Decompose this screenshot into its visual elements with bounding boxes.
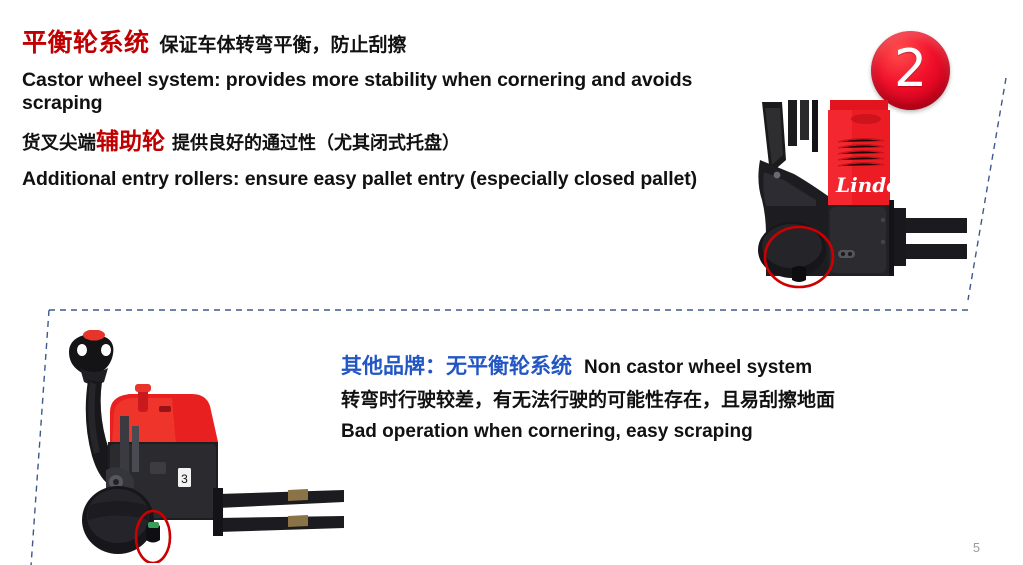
entry-rollers-suffix-cn: 提供良好的通过性（尤其闭式托盘） <box>172 133 460 154</box>
other-brand-pallet-truck-image: 3 <box>50 330 350 563</box>
castor-system-title-cn: 平衡轮系统 <box>22 28 150 57</box>
linde-truck-illustration: Linde <box>752 100 967 292</box>
entry-rollers-line-cn: 货叉尖端辅助轮提供良好的通过性（尤其闭式托盘） <box>22 128 752 156</box>
other-brand-heading-row: 其他品牌：无平衡轮系统Non castor wheel system <box>341 354 901 380</box>
slide-canvas: 平衡轮系统保证车体转弯平衡，防止刮擦 Castor wheel system: … <box>0 0 1023 565</box>
bottom-text-block: 其他品牌：无平衡轮系统Non castor wheel system 转弯时行驶… <box>341 354 901 452</box>
other-brand-title-en: Non castor wheel system <box>584 357 812 378</box>
other-truck-illustration: 3 <box>50 330 350 563</box>
truck-number-plate: 3 <box>181 472 188 486</box>
step-number-badge: 2 <box>871 31 950 110</box>
other-brand-title-cn: 其他品牌：无平衡轮系统 <box>341 354 572 378</box>
linde-logo-text: Linde <box>835 173 899 197</box>
other-brand-desc-cn: 转弯时行驶较差，有无法行驶的可能性存在，且易刮擦地面 <box>341 389 901 412</box>
step-number-badge-label: 2 <box>894 43 927 95</box>
dash-line-lower-left <box>31 310 49 565</box>
top-text-block: 平衡轮系统保证车体转弯平衡，防止刮擦 Castor wheel system: … <box>22 28 752 198</box>
entry-rollers-text-en: Additional entry rollers: ensure easy pa… <box>22 168 752 192</box>
dash-line-upper-right <box>968 78 1006 300</box>
top-heading-line: 平衡轮系统保证车体转弯平衡，防止刮擦 <box>22 28 752 59</box>
castor-system-text-en: Castor wheel system: provides more stabi… <box>22 69 752 117</box>
entry-rollers-prefix-cn: 货叉尖端 <box>22 133 96 154</box>
linde-pallet-truck-image: Linde <box>752 100 967 292</box>
other-brand-desc-en: Bad operation when cornering, easy scrap… <box>341 421 901 444</box>
entry-rollers-highlight-cn: 辅助轮 <box>96 129 165 155</box>
castor-system-subtitle-cn: 保证车体转弯平衡，防止刮擦 <box>160 34 407 56</box>
page-number: 5 <box>973 541 980 555</box>
